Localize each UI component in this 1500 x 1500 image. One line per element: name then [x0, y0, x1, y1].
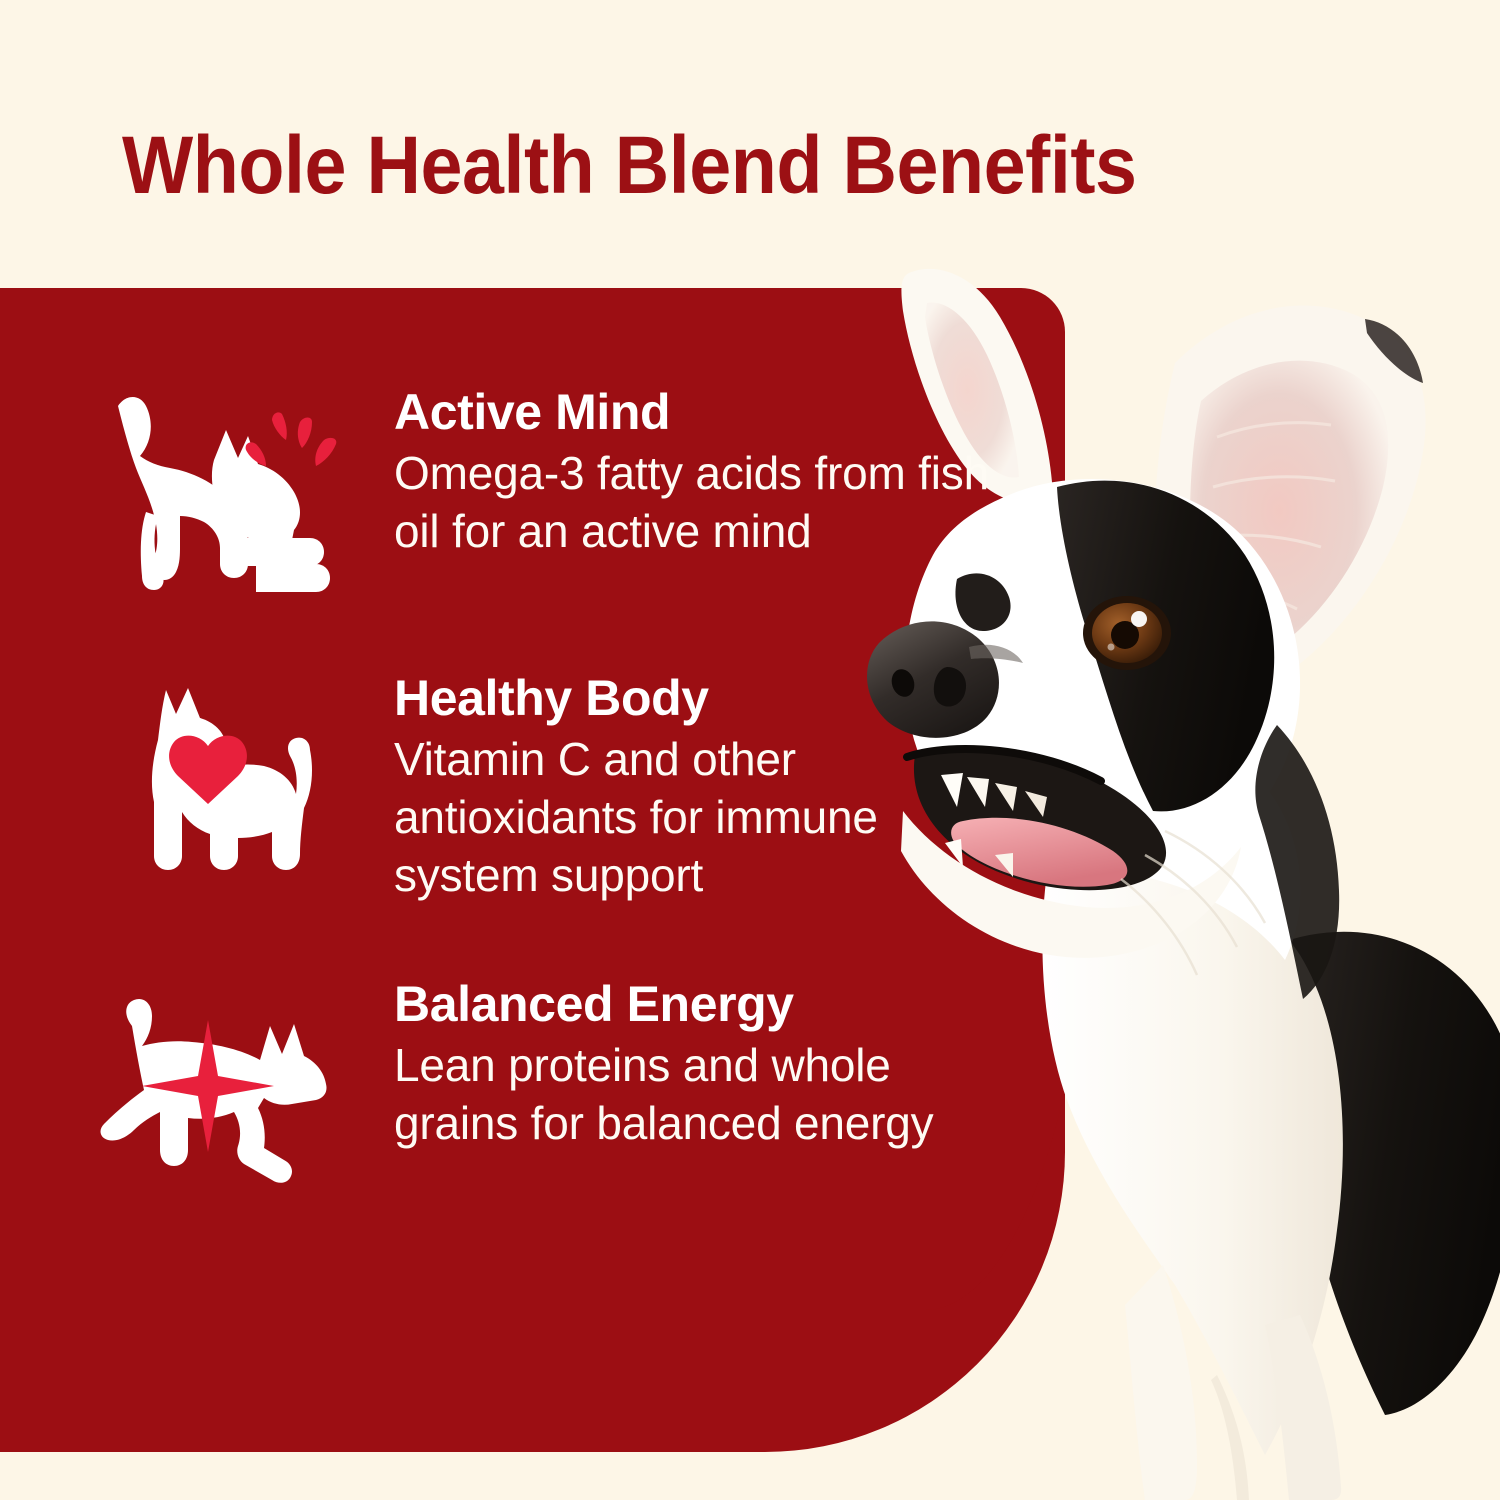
- dog-standing-heart-icon: [96, 674, 346, 884]
- dog-trotting-star-icon: [96, 980, 346, 1190]
- benefit-heading: Active Mind: [394, 384, 1006, 440]
- benefit-item-healthy-body: Healthy Body Vitamin C and other antioxi…: [0, 664, 1010, 904]
- benefit-text-active-mind: Active Mind Omega-3 fatty acids from fis…: [346, 378, 1006, 560]
- benefit-text-healthy-body: Healthy Body Vitamin C and other antioxi…: [346, 664, 1006, 904]
- benefit-item-balanced-energy: Balanced Energy Lean proteins and whole …: [0, 970, 1010, 1190]
- benefit-body: Omega-3 fatty acids from fish oil for an…: [394, 444, 1006, 560]
- benefit-heading: Balanced Energy: [394, 976, 1006, 1032]
- benefits-list: Active Mind Omega-3 fatty acids from fis…: [0, 288, 1010, 1452]
- page-title: Whole Health Blend Benefits: [122, 120, 1134, 212]
- benefit-body: Vitamin C and other antioxidants for imm…: [394, 730, 1006, 904]
- benefit-heading: Healthy Body: [394, 670, 1006, 726]
- benefit-body: Lean proteins and whole grains for balan…: [394, 1036, 1006, 1152]
- benefit-text-balanced-energy: Balanced Energy Lean proteins and whole …: [346, 970, 1006, 1152]
- dog-playbow-sparks-icon: [96, 388, 346, 598]
- benefit-item-active-mind: Active Mind Omega-3 fatty acids from fis…: [0, 378, 1010, 598]
- benefits-infographic: Whole Health Blend Benefits: [0, 0, 1500, 1500]
